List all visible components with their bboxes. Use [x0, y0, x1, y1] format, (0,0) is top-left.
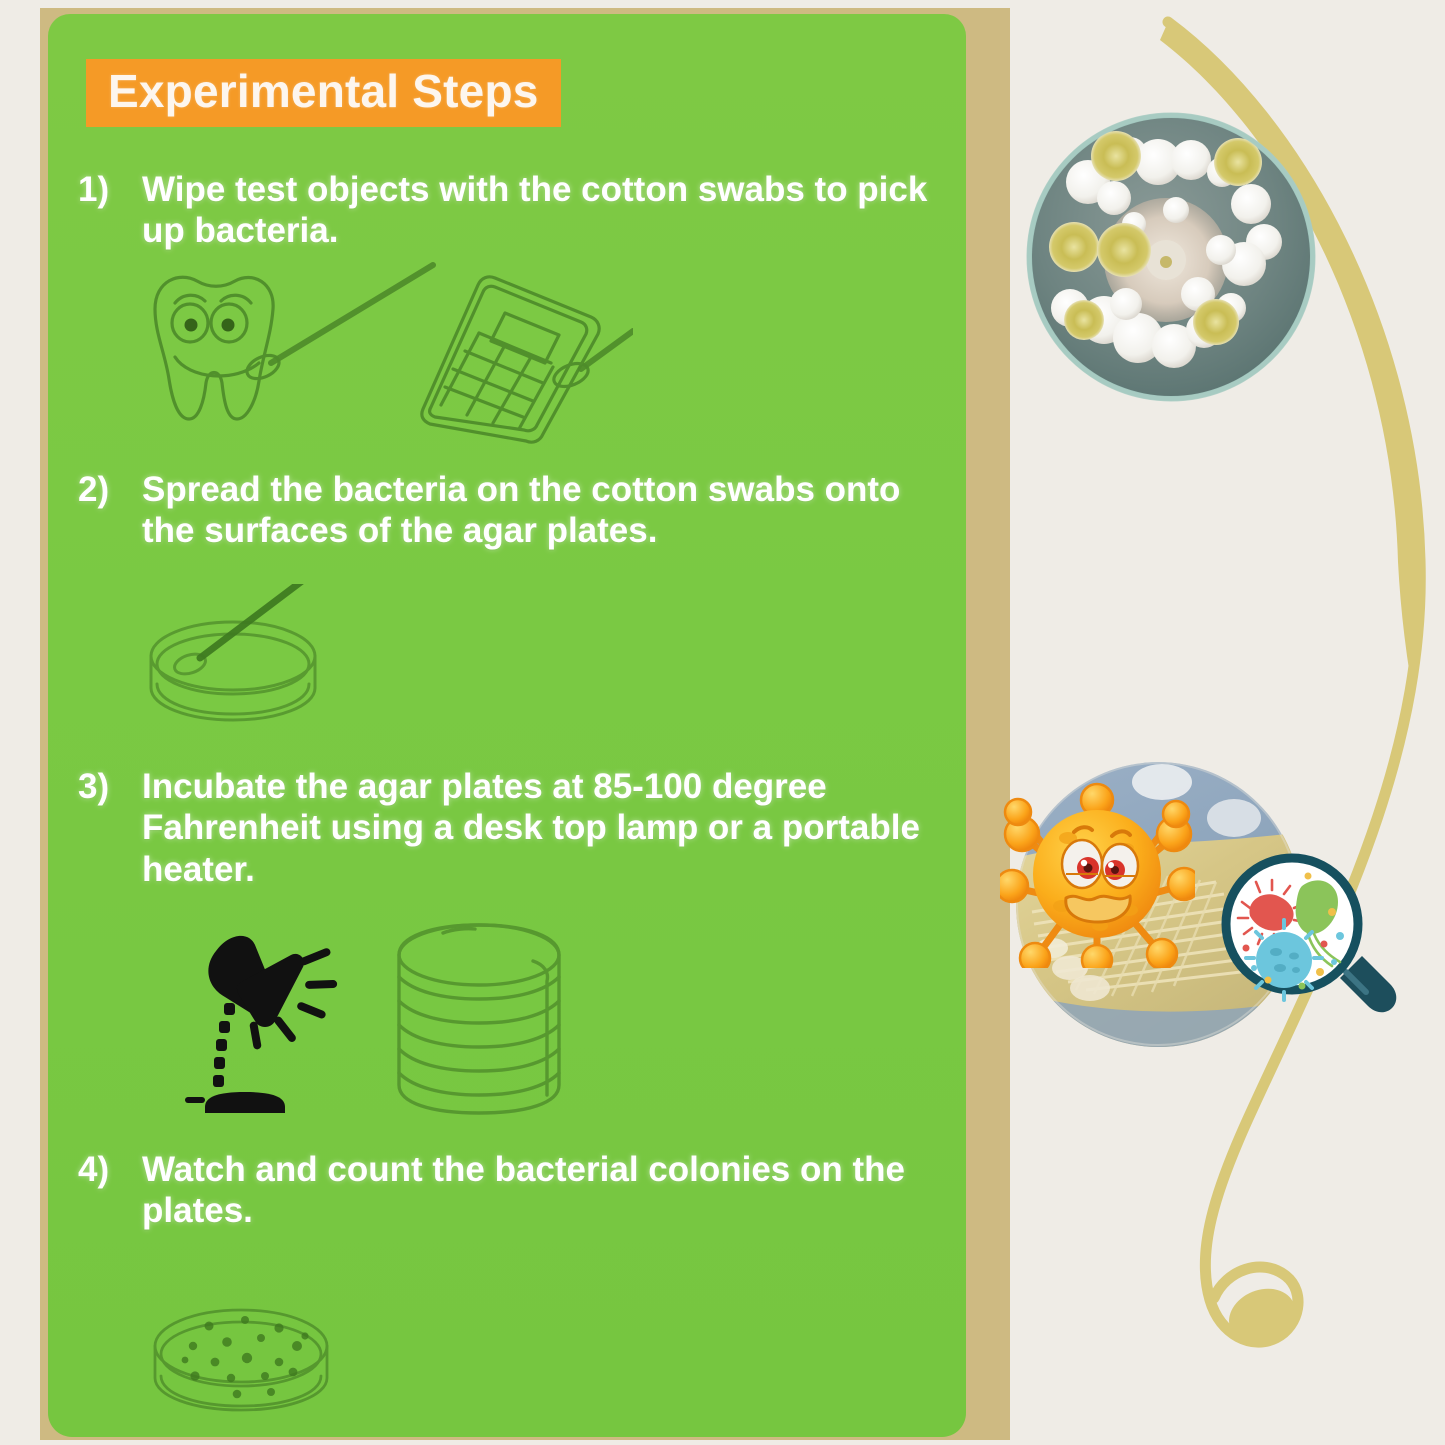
magnifier-microbes-icon	[1216, 852, 1406, 1032]
agar-plate-with-colonies-icon	[133, 1284, 363, 1434]
step-item-2: 2) Spread the bacteria on the cotton swa…	[78, 469, 938, 552]
panel-title-banner: Experimental Steps	[86, 59, 561, 127]
tooth-and-phone-swab-icon	[123, 259, 633, 444]
step-item-3: 3) Incubate the agar plates at 85-100 de…	[78, 766, 938, 890]
poster-canvas: Experimental Steps 1) Wipe test objects …	[0, 0, 1445, 1445]
step-number-3: 3)	[78, 766, 142, 807]
step-number-2: 2)	[78, 469, 142, 510]
agar-plate-with-swab-icon	[128, 584, 358, 739]
experimental-steps-panel: Experimental Steps 1) Wipe test objects …	[48, 14, 966, 1437]
stacked-agar-plates-icon	[383, 919, 578, 1119]
step-item-4: 4) Watch and count the bacterial colonie…	[78, 1149, 938, 1232]
magnifying-glass-microbes-icon	[1216, 852, 1406, 1032]
step-number-1: 1)	[78, 169, 142, 210]
step-number-4: 4)	[78, 1149, 142, 1190]
cartoon-germ-icon	[1000, 778, 1195, 968]
page-title: Experimental Steps	[108, 67, 539, 115]
step-text-2: Spread the bacteria on the cotton swabs …	[142, 469, 938, 552]
step-text-1: Wipe test objects with the cotton swabs …	[142, 169, 938, 252]
step-text-3: Incubate the agar plates at 85-100 degre…	[142, 766, 938, 890]
desk-lamp-icon	[183, 929, 383, 1124]
step-4-illustration	[133, 1284, 363, 1434]
orange-virus-character-icon	[1000, 778, 1195, 968]
step-3-lamp-illustration	[183, 929, 383, 1124]
step-3-plate-stack-illustration	[383, 919, 578, 1119]
mold-plate-graphic	[1026, 112, 1316, 402]
step-1-illustration	[123, 259, 633, 444]
step-text-4: Watch and count the bacterial colonies o…	[142, 1149, 938, 1232]
step-item-1: 1) Wipe test objects with the cotton swa…	[78, 169, 938, 252]
petri-dish-mold-colonies-photo	[1026, 112, 1316, 402]
step-2-illustration	[128, 584, 358, 739]
